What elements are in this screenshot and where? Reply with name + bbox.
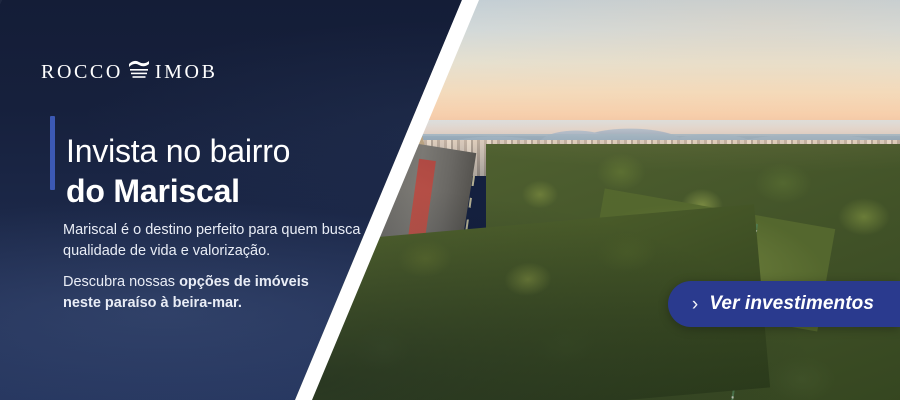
brand-logo[interactable]: ROCCO IMOB bbox=[41, 59, 218, 84]
promo-banner: ROCCO IMOB Invista no bairro do Mariscal… bbox=[0, 0, 900, 400]
cta-label: Ver investimentos bbox=[709, 293, 874, 315]
headline-line-1: Invista no bairro bbox=[66, 131, 290, 171]
brand-suffix: IMOB bbox=[155, 62, 218, 82]
cta-button[interactable]: › Ver investimentos bbox=[668, 281, 900, 327]
brand-name: ROCCO bbox=[41, 62, 123, 82]
page-title: Invista no bairro do Mariscal bbox=[66, 131, 290, 211]
description-paragraph: Mariscal é o destino perfeito para quem … bbox=[63, 220, 363, 262]
offer-second-line: neste paraíso à beira-mar. bbox=[63, 293, 363, 314]
chevron-right-icon: › bbox=[692, 295, 698, 314]
panel-content: ROCCO IMOB Invista no bairro do Mariscal… bbox=[0, 0, 462, 400]
stacked-waves-icon bbox=[128, 59, 150, 84]
offer-prefix: Descubra nossas bbox=[63, 274, 179, 290]
offer-highlight: opções de imóveis bbox=[179, 274, 309, 290]
headline-line-2: do Mariscal bbox=[66, 171, 290, 211]
offer-paragraph: Descubra nossas opções de imóveis neste … bbox=[63, 272, 363, 314]
headline-accent-bar bbox=[50, 116, 55, 190]
